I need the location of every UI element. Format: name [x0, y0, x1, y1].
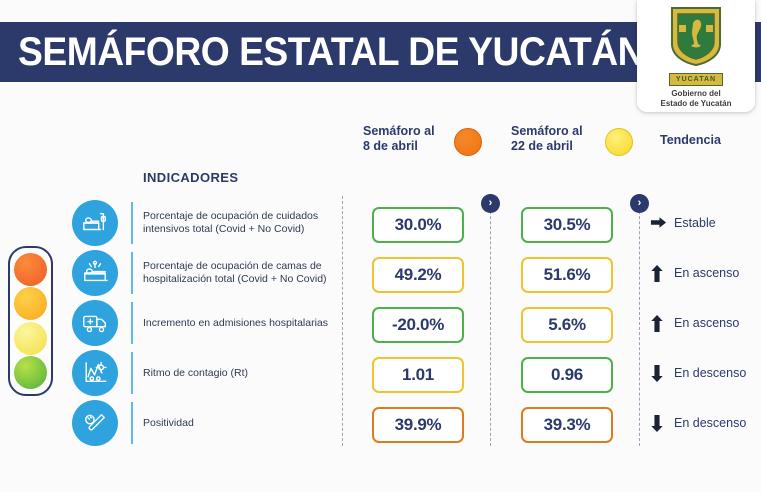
- table-row: Incremento en admisiones hospitalarias-2…: [0, 298, 761, 348]
- col2-line1: Semáforo al: [511, 124, 583, 139]
- value-box-col2: 30.5%: [521, 207, 613, 243]
- indicadores-heading: INDICADORES: [143, 170, 238, 185]
- value-box-col1: 1.01: [372, 357, 464, 393]
- row-separator: [131, 252, 133, 294]
- trend-label: En descenso: [674, 416, 746, 430]
- trend-cell: En ascenso: [650, 248, 761, 298]
- value-box-col1: -20.0%: [372, 307, 464, 343]
- trend-label: En ascenso: [674, 316, 739, 330]
- hospital-bed-icon: [72, 250, 118, 296]
- column-header-tendencia: Tendencia: [660, 133, 721, 148]
- table-row: Porcentaje de ocupación de cuidados inte…: [0, 198, 761, 248]
- test-swab-icon: [72, 400, 118, 446]
- arrow-up-icon: [650, 314, 667, 333]
- value-box-col1: 49.2%: [372, 257, 464, 293]
- page-title: SEMÁFORO ESTATAL DE YUCATÁN: [18, 30, 644, 74]
- logo-caption-line2: Estado de Yucatán: [661, 99, 732, 109]
- arrow-down-icon: [650, 414, 667, 433]
- value-box-col2: 0.96: [521, 357, 613, 393]
- col2-line2: 22 de abril: [511, 139, 583, 154]
- table-row: Porcentaje de ocupación de camas de hosp…: [0, 248, 761, 298]
- row-separator: [131, 202, 133, 244]
- yucatan-coat-of-arms-icon: [669, 6, 723, 72]
- col1-line2: 8 de abril: [363, 139, 435, 154]
- semaforo-8-abril-color-dot: [454, 128, 482, 156]
- trend-cell: En ascenso: [650, 298, 761, 348]
- contagion-chart-icon: [72, 350, 118, 396]
- value-box-col1: 39.9%: [372, 407, 464, 443]
- table-row: Ritmo de contagio (Rt)1.010.96En descens…: [0, 348, 761, 398]
- trend-label: En ascenso: [674, 266, 739, 280]
- government-logo-card: YUCATAN Gobierno del Estado de Yucatán: [637, 0, 755, 112]
- value-box-col2: 39.3%: [521, 407, 613, 443]
- logo-ribbon: YUCATAN: [669, 73, 723, 86]
- trend-label: Estable: [674, 216, 716, 230]
- row-separator: [131, 402, 133, 444]
- column-header-semaforo-8-abril: Semáforo al 8 de abril: [363, 124, 435, 154]
- col1-line1: Semáforo al: [363, 124, 435, 139]
- arrow-down-icon: [650, 364, 667, 383]
- indicator-label: Positividad: [143, 398, 333, 448]
- indicator-label: Porcentaje de ocupación de cuidados inte…: [143, 198, 333, 248]
- logo-caption: Gobierno del Estado de Yucatán: [661, 89, 732, 109]
- table-row: Positividad39.9%39.3%En descenso: [0, 398, 761, 448]
- indicator-label: Porcentaje de ocupación de camas de hosp…: [143, 248, 333, 298]
- arrow-right-icon: [650, 214, 667, 233]
- indicator-label: Ritmo de contagio (Rt): [143, 348, 333, 398]
- value-box-col2: 5.6%: [521, 307, 613, 343]
- column-header-semaforo-22-abril: Semáforo al 22 de abril: [511, 124, 583, 154]
- arrow-up-icon: [650, 264, 667, 283]
- trend-cell: En descenso: [650, 398, 761, 448]
- indicator-label: Incremento en admisiones hospitalarias: [143, 298, 333, 348]
- icu-bed-icon: [72, 200, 118, 246]
- ambulance-icon: [72, 300, 118, 346]
- trend-cell: En descenso: [650, 348, 761, 398]
- logo-caption-line1: Gobierno del: [661, 89, 732, 99]
- semaforo-22-abril-color-dot: [605, 128, 633, 156]
- row-separator: [131, 352, 133, 394]
- trend-label: En descenso: [674, 366, 746, 380]
- value-box-col1: 30.0%: [372, 207, 464, 243]
- trend-cell: Estable: [650, 198, 761, 248]
- value-box-col2: 51.6%: [521, 257, 613, 293]
- row-separator: [131, 302, 133, 344]
